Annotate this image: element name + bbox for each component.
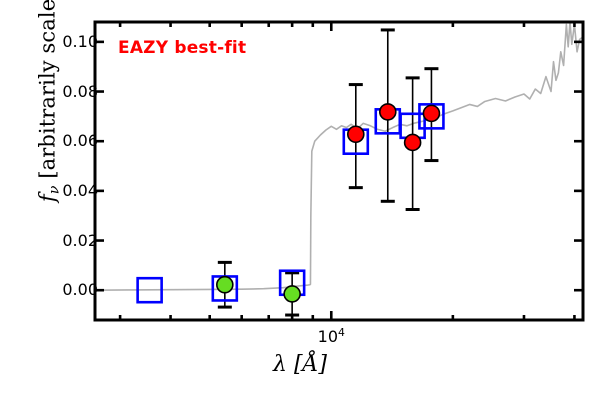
y-tick-label: 0.04 bbox=[42, 183, 98, 199]
y-tick-label: 0.08 bbox=[42, 84, 98, 100]
y-tick-label: 0.02 bbox=[42, 233, 98, 249]
spectrum-line bbox=[95, 22, 583, 290]
figure-canvas: fν [arbitrarily scaled] λ [Å] 0.000.020.… bbox=[0, 0, 600, 400]
x-tick-label: 104 bbox=[318, 328, 345, 345]
detection-circle-marker bbox=[423, 105, 439, 121]
y-tick-label: 0.10 bbox=[42, 34, 98, 50]
eazy-best-fit-annotation: EAZY best-fit bbox=[118, 38, 246, 58]
plot-area bbox=[0, 0, 600, 400]
y-tick-label: 0.06 bbox=[42, 133, 98, 149]
y-tick-label: 0.00 bbox=[42, 282, 98, 298]
upper-limit-circle-marker bbox=[284, 286, 300, 302]
upper-limit-circle-marker bbox=[217, 277, 233, 293]
detection-circle-marker bbox=[405, 134, 421, 150]
axes-frame bbox=[95, 22, 583, 320]
detection-circle-marker bbox=[348, 126, 364, 142]
detection-circle-marker bbox=[380, 104, 396, 120]
